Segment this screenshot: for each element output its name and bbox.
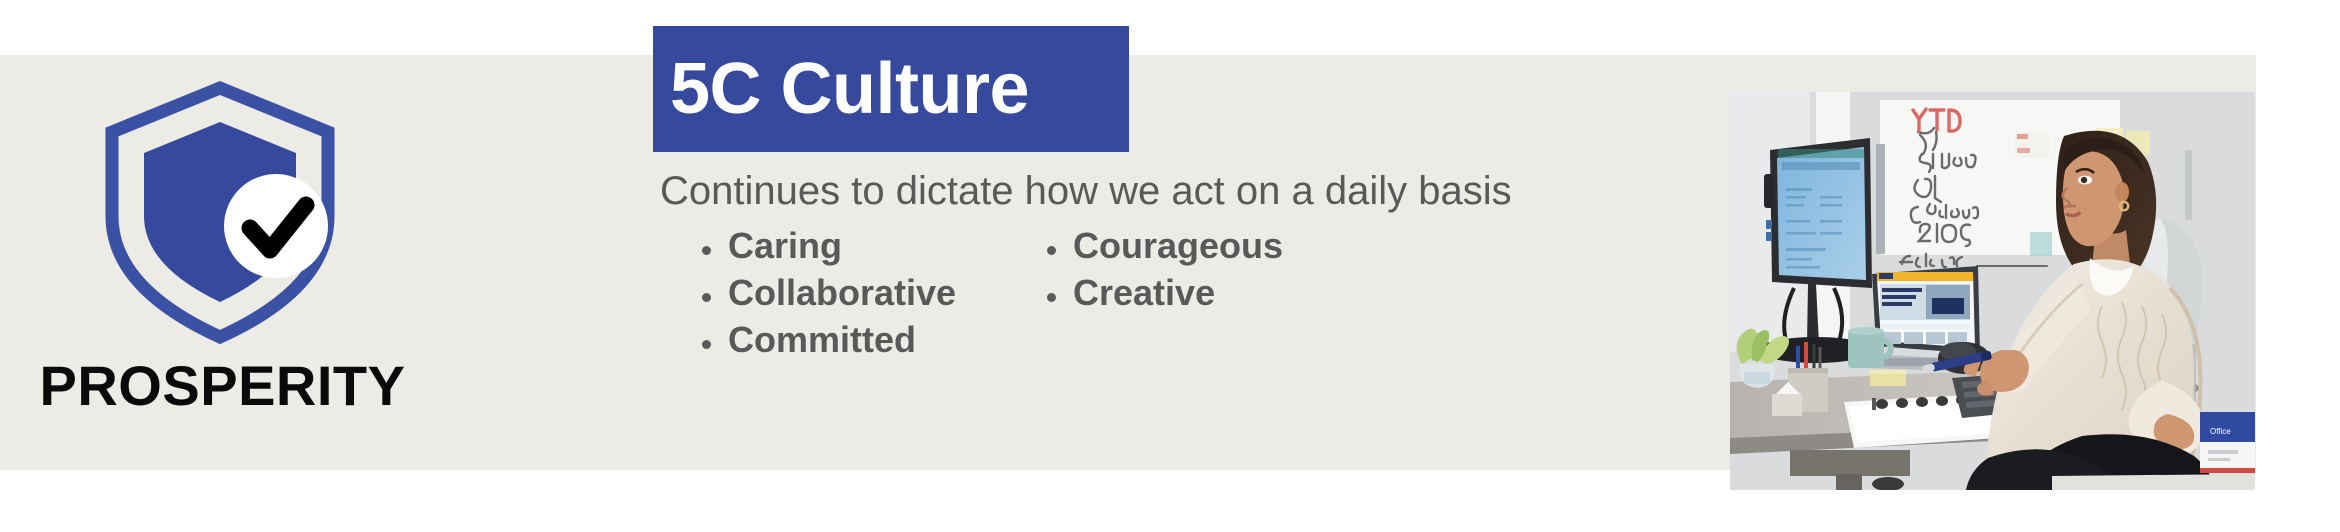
value-label: Committed [728,322,916,358]
svg-text:Office: Office [2210,427,2231,436]
shield-check-icon [100,80,340,345]
office-photo: Office [1730,92,2255,490]
value-label: Creative [1073,275,1215,311]
value-label: Courageous [1073,228,1283,264]
slide-canvas: PROSPERITY 5C Culture Continues to dicta… [0,0,2340,532]
value-label: Collaborative [728,275,956,311]
list-item: Collaborative [700,275,956,322]
page-subtitle: Continues to dictate how we act on a dai… [660,168,1512,214]
brand-logo-block: PROSPERITY [0,70,445,415]
list-item: Creative [1045,275,1283,322]
values-column-2: Courageous Creative [1045,228,1283,322]
values-column-1: Caring Collaborative Committed [700,228,956,369]
title-banner: 5C Culture [653,26,1129,152]
page-title: 5C Culture [653,53,1029,125]
list-item: Committed [700,322,956,369]
list-item: Courageous [1045,228,1283,275]
list-item: Caring [700,228,956,275]
value-label: Caring [728,228,842,264]
brand-name: PROSPERITY [0,358,445,414]
